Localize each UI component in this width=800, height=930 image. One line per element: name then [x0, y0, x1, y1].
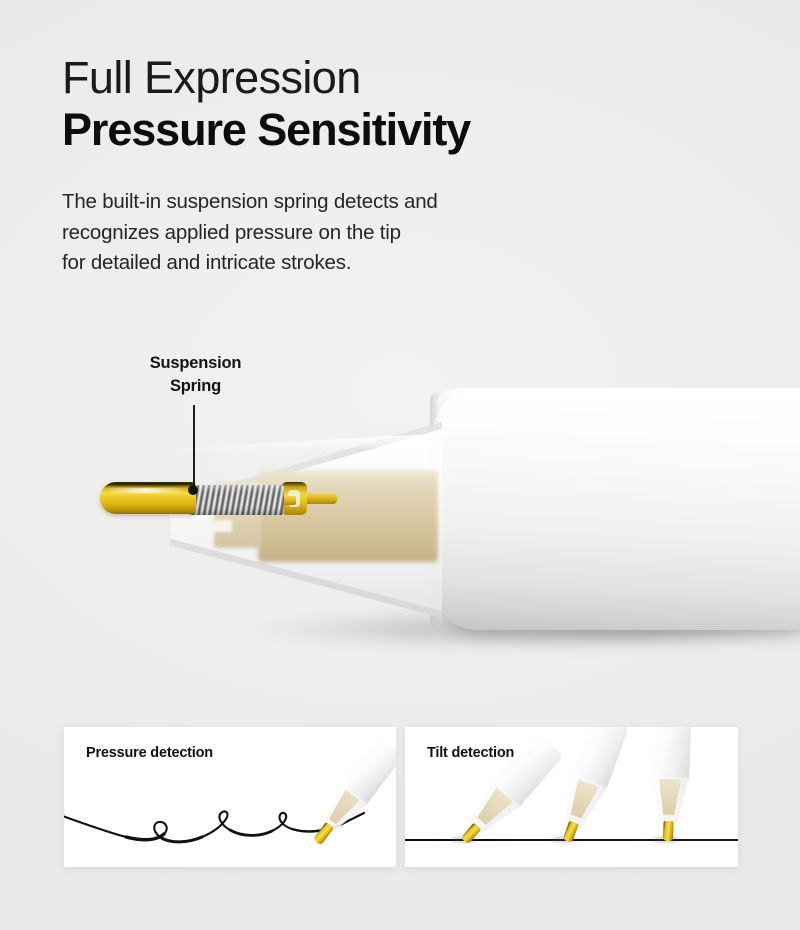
tilt-stylus-barrel-3: [651, 727, 691, 782]
page-description: The built-in suspension spring detects a…: [62, 187, 702, 279]
tilt-stylus-nib-3: [663, 821, 674, 841]
description-line-3: for detailed and intricate strokes.: [62, 248, 702, 279]
coil-spring-icon: [188, 485, 284, 515]
callout-label: Suspension Spring: [108, 352, 283, 398]
gold-nib-highlight: [108, 488, 182, 493]
stylus-body-icon: [432, 390, 800, 630]
stylus-tilt-high-icon: [641, 727, 697, 840]
description-line-2: recognizes applied pressure on the tip: [62, 218, 702, 249]
core-notch-lower: [212, 520, 232, 532]
callout-label-line2: Spring: [108, 375, 283, 398]
callout-dot-icon: [188, 485, 198, 495]
pressure-stylus-nib: [313, 822, 334, 846]
gold-nib-icon: [100, 482, 196, 514]
product-feature-page: Full Expression Pressure Sensitivity The…: [0, 0, 800, 930]
stylus-tilt-mid-icon: [543, 727, 636, 848]
feature-panel-pressure: Pressure detection: [64, 727, 396, 867]
gold-shaft-stub: [305, 493, 337, 504]
leader-line-icon: [193, 405, 195, 491]
description-line-1: The built-in suspension spring detects a…: [62, 187, 702, 218]
page-title-line1: Full Expression: [62, 52, 702, 103]
feature-panel-tilt: Tilt detection: [405, 727, 738, 867]
tilt-stylus-nib-2: [563, 821, 579, 843]
stylus-body-highlight: [432, 388, 800, 414]
page-title-line2: Pressure Sensitivity: [62, 103, 702, 157]
header-block: Full Expression Pressure Sensitivity The…: [62, 52, 702, 279]
callout-label-line1: Suspension: [108, 352, 283, 375]
hero-product-image: Suspension Spring: [0, 330, 800, 680]
tilt-stylus-nib-1: [461, 823, 482, 845]
